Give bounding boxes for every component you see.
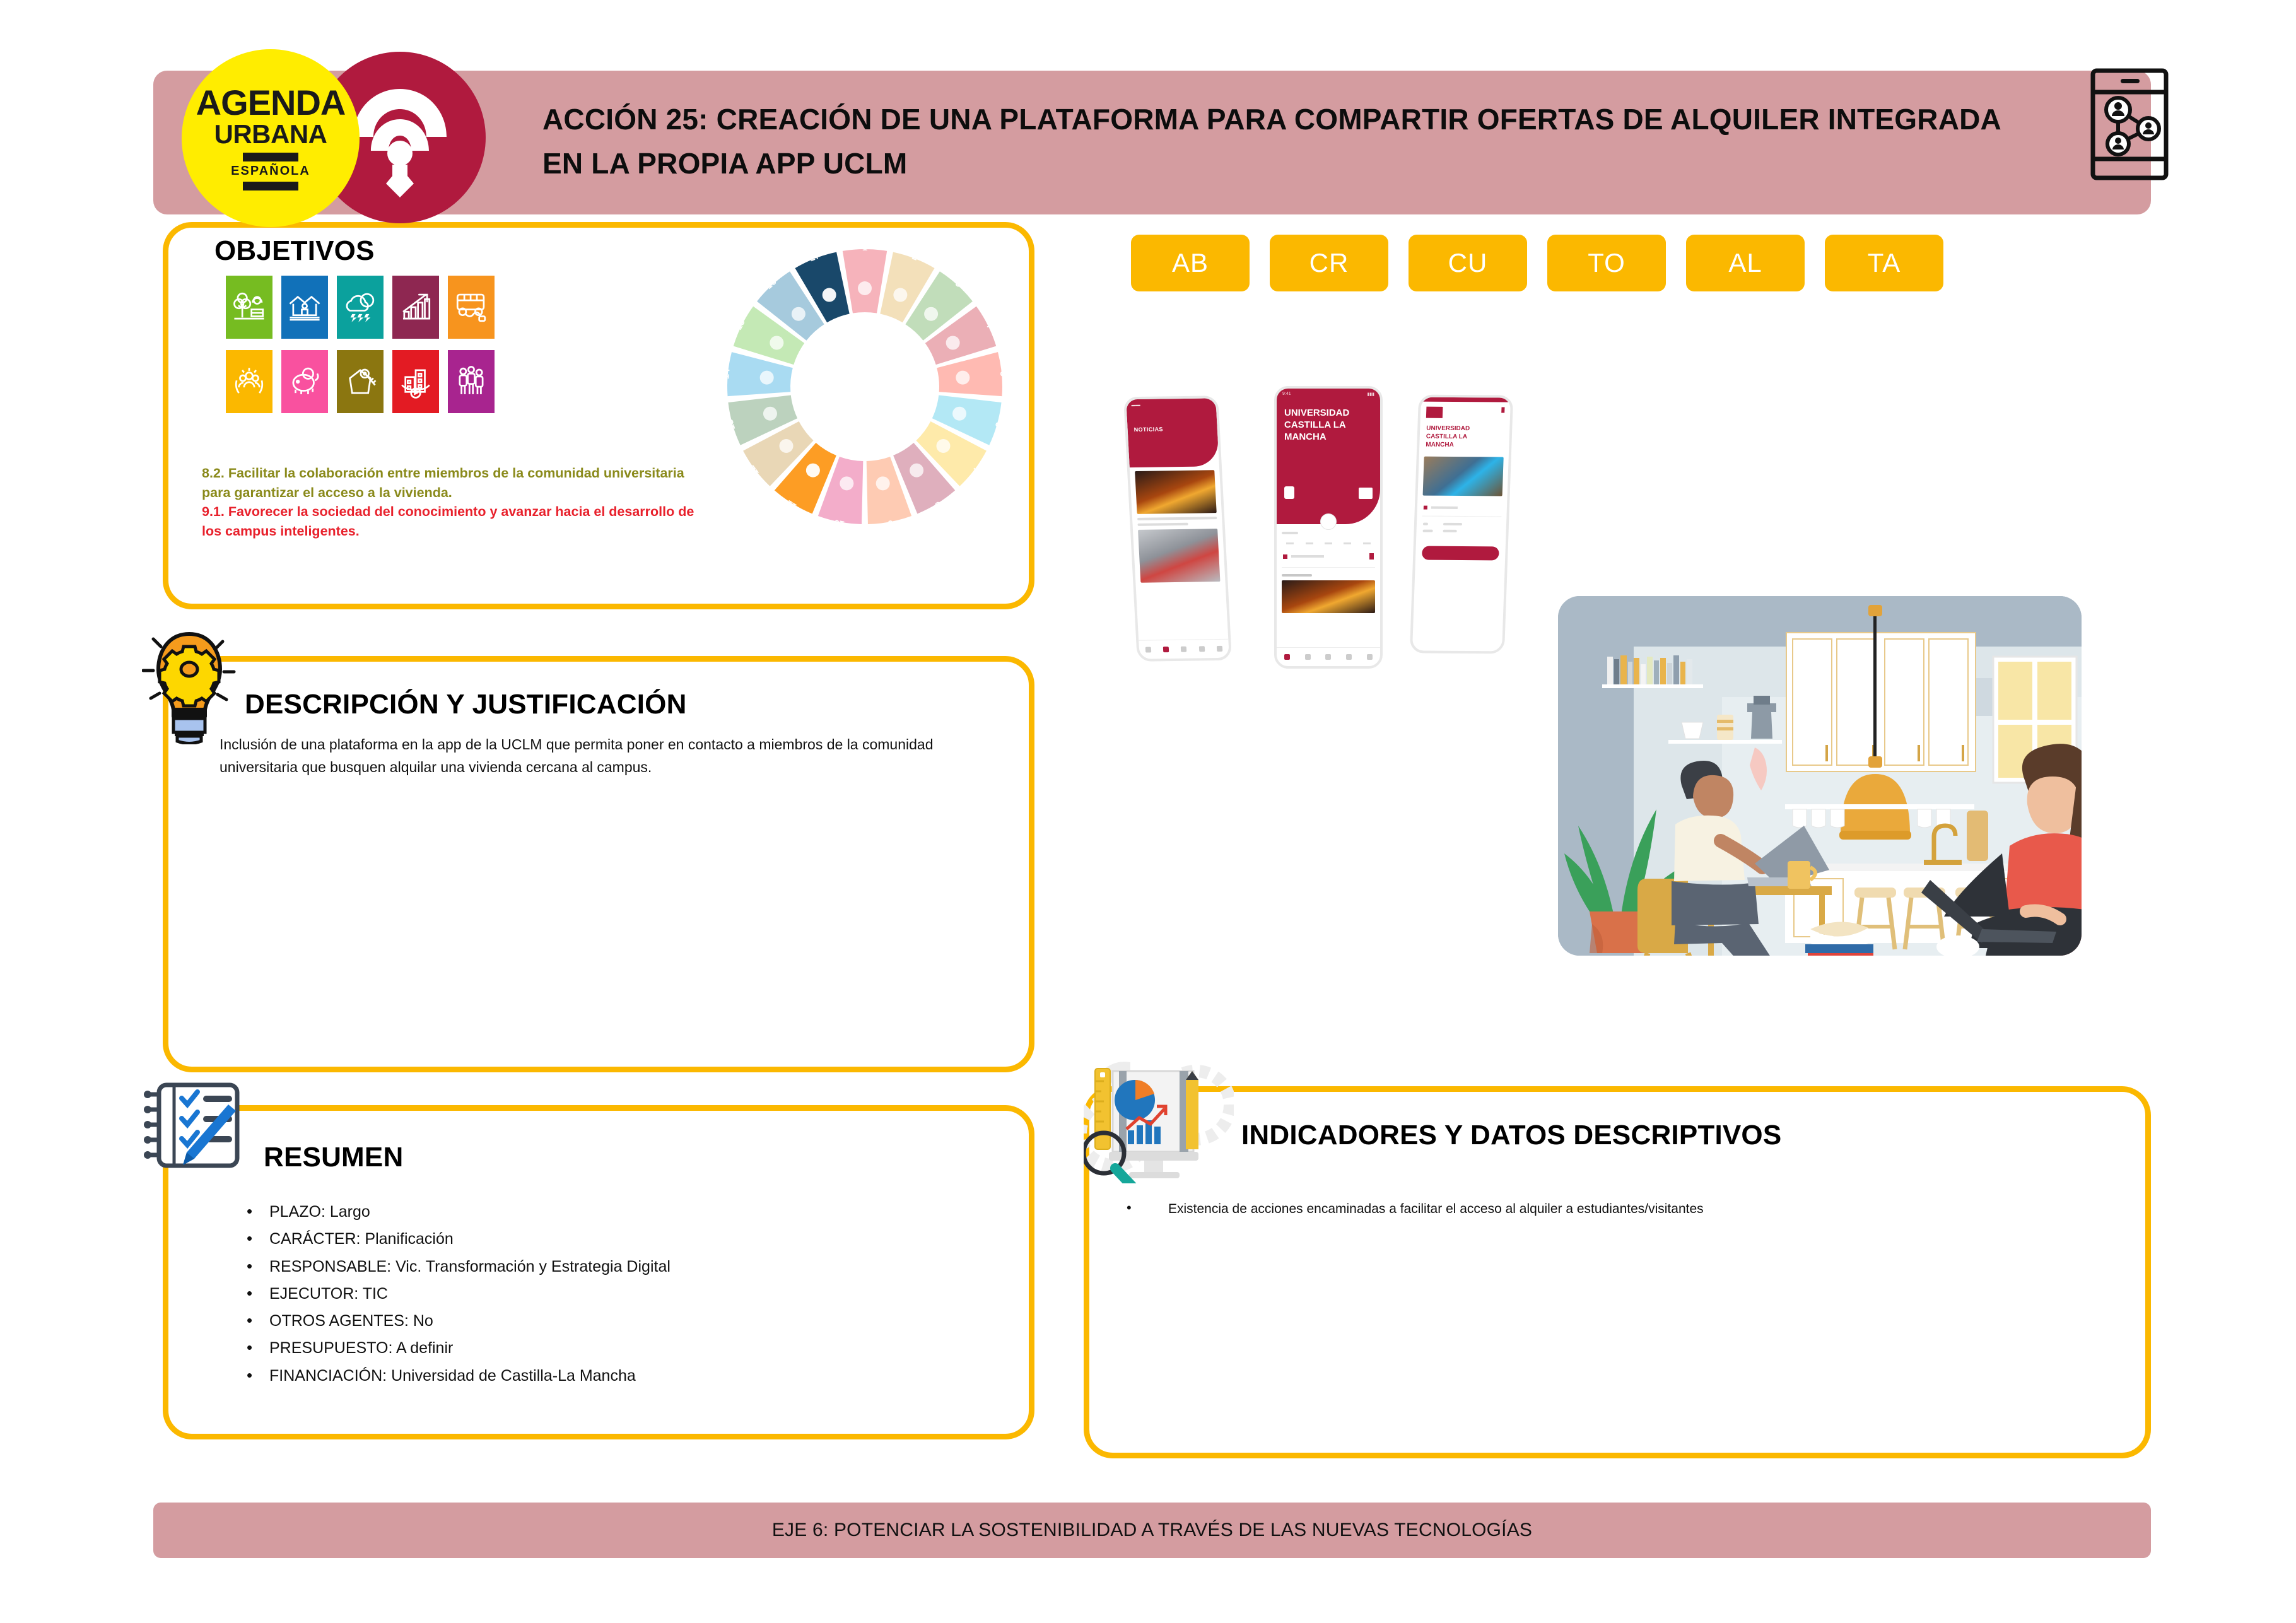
aue-tile-piggy-bank[interactable] [281,350,328,413]
uclm-app-phone-mockups: ▬▬ NOTICIAS 9:41▮▮▮ UNIVERSIDADCASTILLA … [1123,378,1552,675]
sdg-segment-glyph-14 [760,371,774,385]
sdg-segment-glyph-6 [952,407,966,421]
sdg-segment-glyph-9 [876,476,890,490]
campus-badge-to[interactable]: TO [1547,235,1666,291]
sdg-segment-number-9: 9 [887,518,894,527]
campus-badge-ta[interactable]: TA [1825,235,1943,291]
phone-mockup-detail: UNIVERSIDADCASTILLA LAMANCHA [1410,395,1513,654]
list-item: OTROS AGENTES: No [243,1308,987,1335]
climate-storm-icon [342,289,378,325]
phone-mockup-news: ▬▬ NOTICIAS [1123,395,1232,662]
sdg-segment-glyph-12 [780,439,794,453]
campus-badge-cr[interactable]: CR [1270,235,1388,291]
sdg-segment-glyph-17 [823,288,836,302]
page-title: ACCIÓN 25: CREACIÓN DE UNA PLATAFORMA PA… [542,98,2044,186]
sdg-wheel-icon: 1234567891011121314151617 [724,246,1005,527]
list-item: PRESUPUESTO: A definir [243,1335,987,1362]
goal-9-1: 9.1. Favorecer la sociedad del conocimie… [202,502,700,541]
footer-bar: EJE 6: POTENCIAR LA SOSTENIBILIDAD A TRA… [153,1503,2151,1558]
list-item: PLAZO: Largo [243,1198,987,1226]
sdg-segment-glyph-15 [770,336,783,349]
campus-badges: AB CR CU TO AL TA [1131,235,1943,291]
lightbulb-gear-icon [142,628,237,744]
sdg-segment-glyph-7 [936,439,950,453]
sdg-segment-number-5: 5 [998,371,1005,377]
goal-8-2: 8.2. Facilitar la colaboración entre mie… [202,464,700,502]
aue-tile-climate-storm[interactable] [337,276,384,339]
logo-line-1: AGENDA [196,86,346,119]
poster-page: AGENDA URBANA ESPAÑOLA ACCIÓN 25: CREACI… [0,0,2296,1623]
sdg-segment-glyph-4 [946,336,960,349]
sdg-segment-glyph-10 [840,476,853,490]
list-item: EJECUTOR: TIC [243,1280,987,1308]
agenda-urbana-logo: AGENDA URBANA ESPAÑOLA [182,49,360,227]
aue-tile-smart-city[interactable] [392,350,439,413]
social-cohesion-icon [231,363,267,400]
list-item: Existencia de acciones encaminadas a fac… [1123,1198,2082,1220]
logo-rule-top [243,153,298,161]
resumen-items: PLAZO: Largo CARÁCTER: Planificación RES… [243,1198,987,1390]
aue-tile-park-tree[interactable] [226,276,272,339]
sdg-segment-glyph-5 [956,371,969,385]
campus-badge-ab[interactable]: AB [1131,235,1250,291]
electric-mobility-icon [453,289,489,325]
resumen-title: RESUMEN [264,1142,403,1173]
piggy-bank-icon [286,363,323,400]
notebook-checklist-pencil-icon [144,1082,240,1169]
chart-monitor-ruler-magnifier-icon [1084,1060,1234,1183]
descripcion-title: DESCRIPCIÓN Y JUSTIFICACIÓN [245,689,687,720]
sdg-segment-glyph-13 [763,407,777,421]
aue-tile-electric-mobility[interactable] [448,276,495,339]
indicadores-title: INDICADORES Y DATOS DESCRIPTIVOS [1241,1120,1781,1151]
aue-objectives-grid [226,276,495,413]
list-item: RESPONSABLE: Vic. Transformación y Estra… [243,1253,987,1280]
descripcion-body: Inclusión de una plataforma en la app de… [220,734,1008,778]
logo-line-2: URBANA [214,120,327,149]
smart-city-icon [397,363,434,400]
aue-tile-housing[interactable] [281,276,328,339]
aue-tile-participation-people[interactable] [448,350,495,413]
sdg-segment-number-14: 14 [724,368,732,380]
logo-line-3: ESPAÑOLA [231,164,310,179]
participation-people-icon [453,363,489,400]
economy-growth-icon [397,289,434,325]
list-item: FINANCIACIÓN: Universidad de Castilla-La… [243,1362,987,1390]
phone-social-network-icon [2088,67,2171,182]
aue-tile-economy-growth[interactable] [392,276,439,339]
list-item: CARÁCTER: Planificación [243,1226,987,1253]
phone-mockup-home: 9:41▮▮▮ UNIVERSIDADCASTILLA LAMANCHA [1274,386,1383,669]
aue-tile-house-keys[interactable] [337,350,384,413]
sdg-segment-number-1: 1 [862,246,867,253]
house-keys-icon [342,363,378,400]
sdg-segment-glyph-3 [924,307,938,321]
campus-badge-cu[interactable]: CU [1409,235,1527,291]
footer-text: EJE 6: POTENCIAR LA SOSTENIBILIDAD A TRA… [772,1520,1532,1541]
indicadores-items: Existencia de acciones encaminadas a fac… [1123,1198,2082,1220]
sdg-segment-glyph-8 [910,464,923,478]
phone-b-navbar [1277,647,1380,666]
sdg-segment-1[interactable] [843,249,887,313]
people-working-from-home-kitchen-illustration [1558,596,2082,956]
objetivos-goals: 8.2. Facilitar la colaboración entre mie… [202,464,700,541]
sdg-segment-glyph-1 [858,281,872,295]
campus-badge-al[interactable]: AL [1686,235,1805,291]
sdg-segment-glyph-16 [792,307,805,321]
park-tree-icon [231,289,267,325]
objetivos-title: OBJETIVOS [214,235,375,267]
aue-tile-social-cohesion[interactable] [226,350,272,413]
housing-icon [286,289,323,325]
sdg-segment-glyph-2 [893,288,907,302]
logo-rule-bottom [243,182,298,190]
phone-a-navbar [1139,639,1229,659]
sdg-segment-glyph-11 [806,464,820,478]
